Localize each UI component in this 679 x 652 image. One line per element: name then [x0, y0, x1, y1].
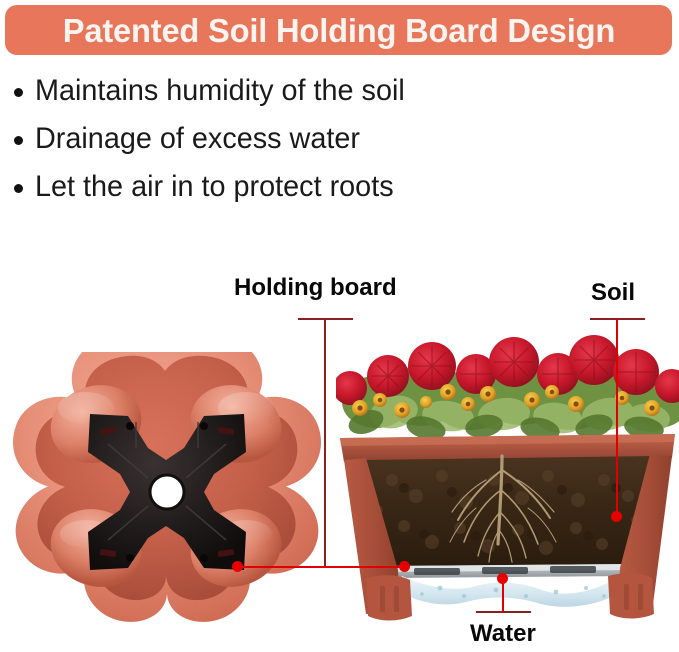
leader-line-soil-stem: [616, 318, 618, 518]
holding-board-plate: [386, 564, 632, 578]
bullet-point-icon: [14, 184, 23, 193]
feature-label: Maintains humidity of the soil: [35, 72, 405, 110]
header-banner: Patented Soil Holding Board Design: [5, 5, 672, 55]
marker-dot-water: [497, 573, 508, 584]
clover-planter-illustration: [8, 352, 326, 622]
feature-label: Drainage of excess water: [35, 120, 360, 158]
leader-line-holding-board-run: [237, 566, 407, 568]
leader-line-water-bar: [476, 611, 531, 613]
list-item: Let the air in to protect roots: [14, 168, 614, 216]
bullet-point-icon: [14, 88, 23, 97]
marker-dot-soil: [611, 511, 622, 522]
callout-label-holding-board: Holding board: [234, 276, 397, 300]
marker-dot-holding-board-right: [399, 561, 410, 572]
list-item: Drainage of excess water: [14, 120, 614, 168]
feature-list: Maintains humidity of the soil Drainage …: [14, 72, 614, 216]
leader-line-holding-board-stem: [324, 318, 326, 568]
infographic-root: Patented Soil Holding Board Design Maint…: [0, 0, 679, 652]
callout-label-water: Water: [470, 622, 536, 646]
marker-dot-holding-board-left: [232, 561, 243, 572]
product-photo-top-view: [8, 352, 326, 622]
banner-title: Patented Soil Holding Board Design: [62, 14, 614, 47]
list-item: Maintains humidity of the soil: [14, 72, 614, 120]
callout-label-soil: Soil: [591, 281, 635, 305]
feature-label: Let the air in to protect roots: [35, 168, 394, 206]
water-reservoir: [400, 576, 616, 607]
bullet-point-icon: [14, 136, 23, 145]
